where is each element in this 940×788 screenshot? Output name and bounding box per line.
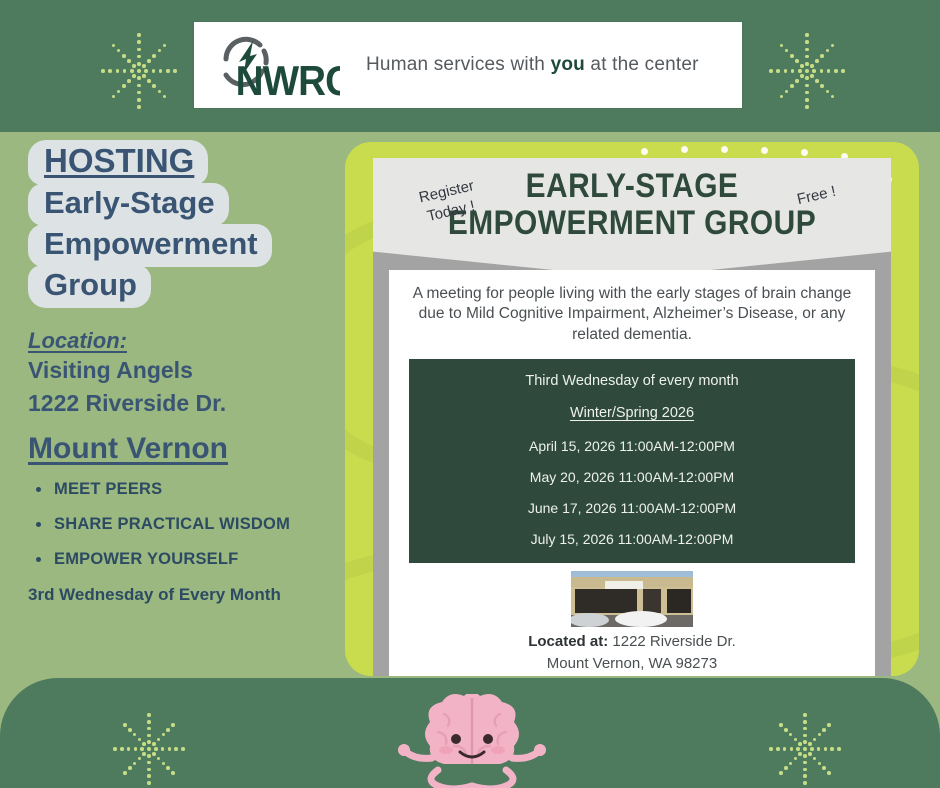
flyer-gray-panel: EARLY-STAGE EMPOWERMENT GROUP Register T…: [373, 158, 891, 676]
starburst-decoration-top-left: [100, 32, 178, 110]
located-at-line: Located at: 1222 Riverside Dr.: [389, 631, 875, 652]
located-at-city: Mount Vernon, WA 98273: [389, 653, 875, 674]
benefits-list: MEET PEERS SHARE PRACTICAL WISDOM EMPOWE…: [28, 480, 348, 569]
flyer-canvas: NWRC Human services with you at the cent…: [0, 0, 940, 788]
schedule-season: Winter/Spring 2026: [419, 405, 845, 421]
schedule-box: Third Wednesday of every month Winter/Sp…: [409, 359, 855, 563]
nwrc-compass-logo: NWRC: [208, 29, 340, 101]
nwrc-tagline: Human services with you at the center: [366, 54, 699, 76]
list-item: SHARE PRACTICAL WISDOM: [28, 515, 348, 534]
hosting-line-3: Empowerment: [28, 224, 272, 267]
meditating-brain-mascot: [392, 694, 552, 788]
starburst-decoration-bottom-left: [112, 712, 186, 786]
hosting-line-1: HOSTING: [28, 140, 208, 185]
venue-street: 1222 Riverside Dr.: [28, 387, 348, 420]
starburst-decoration-top-right: [768, 32, 846, 110]
schedule-date: July 15, 2026 11:00AM-12:00PM: [419, 531, 845, 547]
venue-name: Visiting Angels: [28, 354, 348, 387]
schedule-date: May 20, 2026 11:00AM-12:00PM: [419, 469, 845, 485]
nwrc-logo-card: NWRC Human services with you at the cent…: [194, 22, 742, 108]
list-item: MEET PEERS: [28, 480, 348, 499]
schedule-date: June 17, 2026 11:00AM-12:00PM: [419, 500, 845, 516]
located-at-label: Located at:: [528, 633, 608, 650]
hosting-line-2: Early-Stage: [28, 183, 229, 226]
list-item: EMPOWER YOURSELF: [28, 550, 348, 569]
svg-text:NWRC: NWRC: [236, 56, 340, 101]
venue-city: Mount Vernon: [28, 432, 348, 466]
hosting-headline: HOSTING Early-Stage Empowerment Group: [28, 140, 348, 306]
address-block: Located at: 1222 Riverside Dr. Mount Ver…: [389, 631, 875, 676]
located-at-street: 1222 Riverside Dr.: [608, 633, 736, 650]
schedule-heading: Third Wednesday of every month: [419, 373, 845, 389]
tagline-you: you: [551, 54, 585, 75]
tagline-pre: Human services with: [366, 54, 551, 75]
left-info-column: HOSTING Early-Stage Empowerment Group Lo…: [28, 140, 348, 605]
tagline-post: at the center: [585, 54, 699, 75]
building-photo: [571, 571, 693, 627]
hosting-line-4: Group: [28, 265, 151, 308]
flyer-description: A meeting for people living with the ear…: [407, 284, 857, 345]
starburst-decoration-bottom-right: [768, 712, 842, 786]
location-label: Location:: [28, 328, 348, 354]
flyer-content-card: A meeting for people living with the ear…: [389, 270, 875, 676]
meeting-frequency: 3rd Wednesday of Every Month: [28, 585, 348, 605]
schedule-date: April 15, 2026 11:00AM-12:00PM: [419, 438, 845, 454]
inner-flyer-panel: EARLY-STAGE EMPOWERMENT GROUP Register T…: [345, 142, 919, 676]
